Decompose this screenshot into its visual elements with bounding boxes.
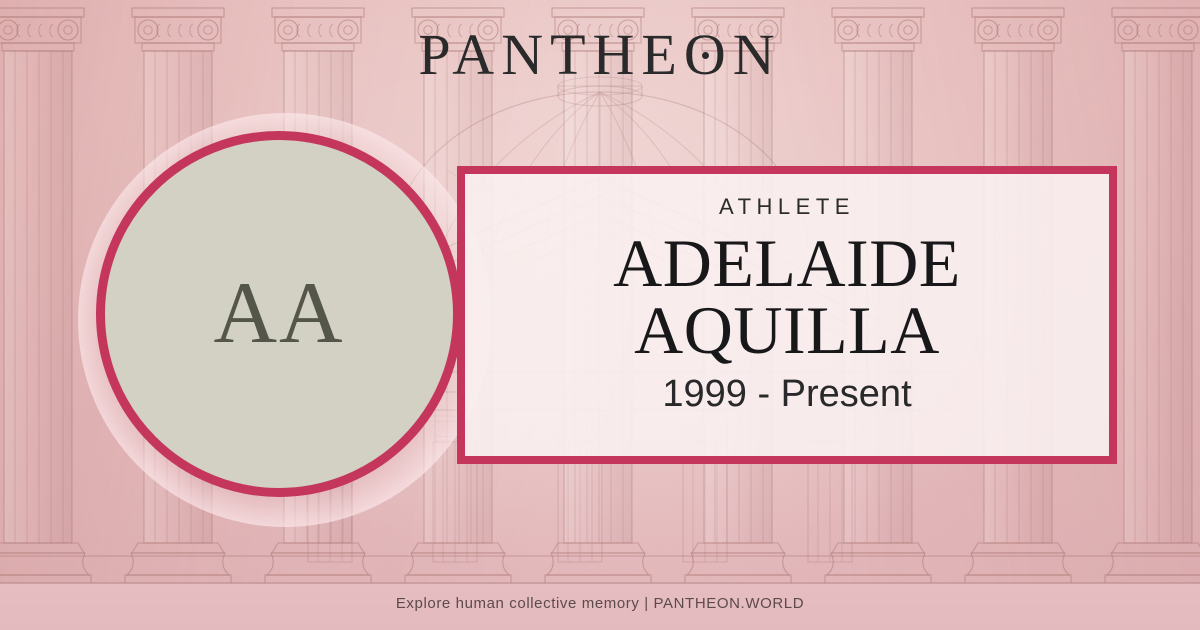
logo-text-after: N [733, 26, 782, 84]
person-name-line-2: AQUILLA [477, 297, 1097, 364]
person-name-line-1: ADELAIDE [477, 230, 1097, 297]
stylobate [0, 556, 1200, 583]
footer-divider [0, 583, 1200, 584]
person-name: ADELAIDE AQUILLA [477, 230, 1097, 363]
logo-text-before: PANTHE [418, 26, 683, 84]
footer-tagline: Explore human collective memory | PANTHE… [0, 596, 1200, 611]
oculus-dot-icon: O [684, 26, 733, 84]
avatar[interactable]: AA [96, 131, 462, 497]
lifespan-label: 1999 - Present [465, 375, 1109, 413]
person-info-card: ATHLETE ADELAIDE AQUILLA 1999 - Present [457, 166, 1117, 464]
occupation-label: ATHLETE [465, 196, 1109, 218]
avatar-initials: AA [213, 270, 344, 358]
pantheon-logo: PANTHEON [0, 26, 1200, 84]
social-card-canvas: PANTHEON AA ATHLETE ADELAIDE AQUILLA 199… [0, 0, 1200, 630]
